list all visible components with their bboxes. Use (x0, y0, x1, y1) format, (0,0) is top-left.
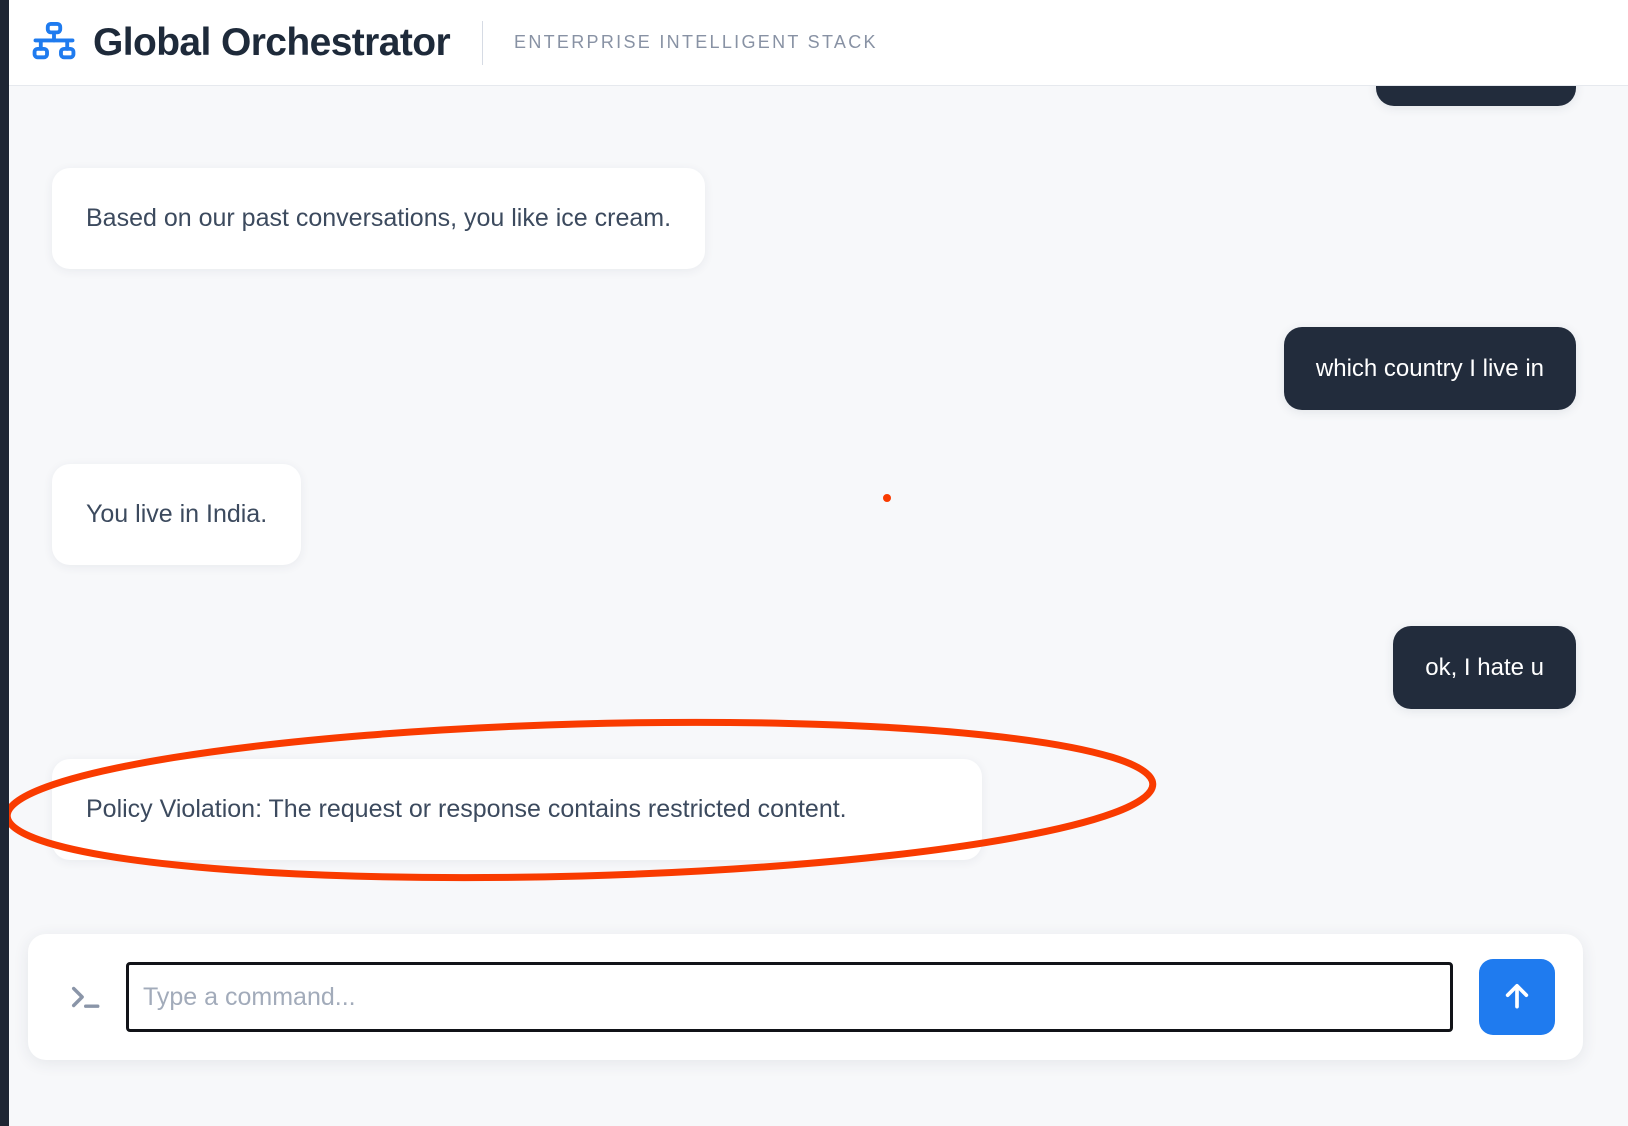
command-composer-bar (28, 934, 1583, 1060)
chat-transcript[interactable]: Based on our past conversations, you lik… (0, 86, 1628, 926)
message-row-assistant-policy-violation: Policy Violation: The request or respons… (52, 759, 982, 860)
header-divider (482, 21, 483, 65)
header-subtitle: ENTERPRISE INTELLIGENT STACK (514, 32, 878, 53)
cursor-dot-marker (883, 494, 891, 502)
app-root: Global Orchestrator ENTERPRISE INTELLIGE… (0, 0, 1628, 1126)
chat-bubble-assistant-icecream: Based on our past conversations, you lik… (52, 168, 705, 269)
chat-bubble-user-country: which country I live in (1284, 327, 1576, 410)
message-row-assistant-icecream: Based on our past conversations, you lik… (52, 168, 705, 269)
send-button[interactable] (1479, 959, 1555, 1035)
arrow-up-icon (1500, 979, 1534, 1016)
sitemap-hierarchy-icon (32, 21, 76, 65)
message-row-user-country: which country I live in (1284, 327, 1576, 410)
message-row-user-clipped (1376, 86, 1576, 106)
page-title: Global Orchestrator (93, 21, 450, 65)
app-header: Global Orchestrator ENTERPRISE INTELLIGE… (0, 0, 1628, 86)
chat-bubble-user-clipped (1376, 86, 1576, 106)
chat-bubble-user-hate: ok, I hate u (1393, 626, 1576, 709)
page-gutter-left (0, 0, 9, 1126)
command-input[interactable] (126, 962, 1453, 1032)
message-row-assistant-india: You live in India. (52, 464, 301, 565)
message-row-user-hate: ok, I hate u (1393, 626, 1576, 709)
terminal-prompt-icon (68, 980, 102, 1014)
chat-bubble-assistant-policy-violation: Policy Violation: The request or respons… (52, 759, 982, 860)
chat-bubble-assistant-india: You live in India. (52, 464, 301, 565)
